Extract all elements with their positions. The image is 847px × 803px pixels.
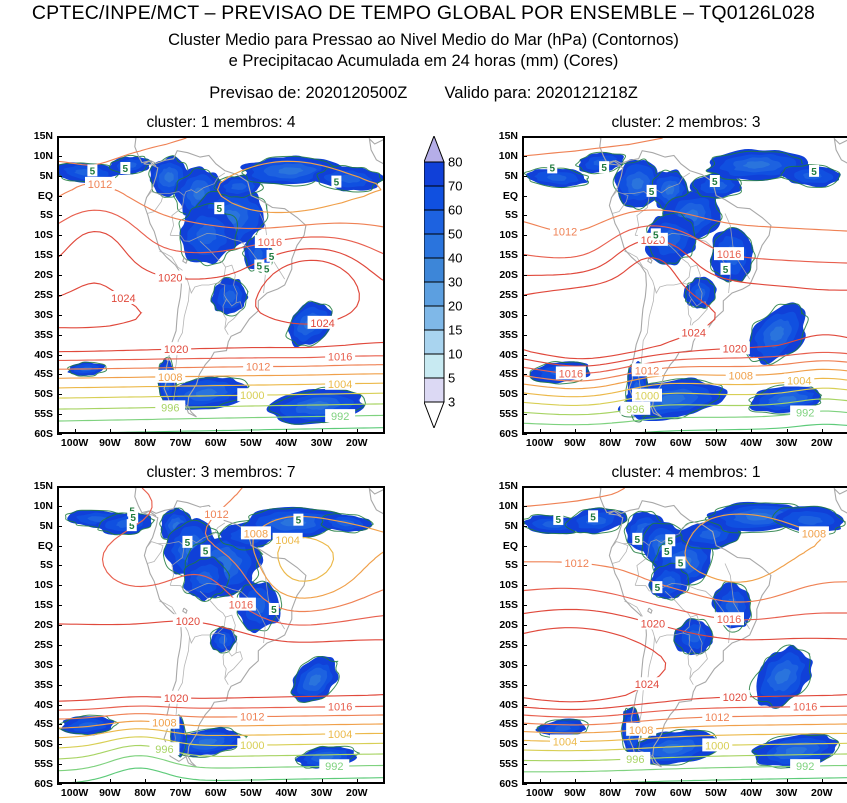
svg-text:5: 5 xyxy=(649,187,655,198)
x-axis-tick: 100W xyxy=(526,787,553,799)
y-axis-tick-mark xyxy=(522,565,527,566)
x-axis-tick-mark xyxy=(751,429,752,434)
y-axis-tick: 40S xyxy=(21,699,53,711)
y-axis-tick: 30S xyxy=(21,659,53,671)
y-axis-tick: 25S xyxy=(486,639,518,651)
y-axis-tick: 55S xyxy=(21,408,53,420)
y-axis-tick-mark xyxy=(57,685,62,686)
valid-for-label: Valido para: 2020121218Z xyxy=(445,84,638,102)
x-axis-tick-mark xyxy=(610,429,611,434)
x-axis-tick: 70W xyxy=(170,787,192,799)
y-axis-tick: EQ xyxy=(486,540,518,552)
svg-text:992: 992 xyxy=(796,407,814,419)
svg-text:1020: 1020 xyxy=(176,616,200,628)
y-axis-tick-mark xyxy=(522,665,527,666)
y-axis-tick: 55S xyxy=(486,758,518,770)
y-axis-tick-mark xyxy=(522,235,527,236)
y-axis-tick: 45S xyxy=(486,368,518,380)
x-axis-tick: 70W xyxy=(635,787,657,799)
y-axis-tick-mark xyxy=(522,315,527,316)
map-plot-area: 9929961000100410041008100810121012101610… xyxy=(57,486,385,784)
colorbar-label-10: 10 xyxy=(448,347,462,362)
y-axis-tick-mark xyxy=(57,625,62,626)
svg-text:5: 5 xyxy=(269,252,275,263)
svg-text:5: 5 xyxy=(217,204,223,215)
y-axis-tick-mark xyxy=(57,235,62,236)
y-axis-tick-mark xyxy=(57,374,62,375)
y-axis-tick-mark xyxy=(522,355,527,356)
svg-text:5: 5 xyxy=(334,178,340,189)
x-axis-tick: 30W xyxy=(776,787,798,799)
svg-text:1016: 1016 xyxy=(258,237,282,249)
svg-text:1020: 1020 xyxy=(641,618,665,630)
x-axis-tick: 60W xyxy=(670,437,692,449)
y-axis-tick-mark xyxy=(522,744,527,745)
colorbar-label-60: 60 xyxy=(448,203,462,218)
map-panel-cluster-4: cluster: 4 membros: 19929961000100410081… xyxy=(522,486,847,784)
x-axis-tick: 40W xyxy=(275,437,297,449)
svg-text:1012: 1012 xyxy=(635,365,659,377)
y-axis-tick-mark xyxy=(522,295,527,296)
svg-text:5: 5 xyxy=(257,262,263,273)
y-axis-tick-mark xyxy=(57,784,62,785)
svg-text:992: 992 xyxy=(796,761,814,773)
x-axis-tick: 90W xyxy=(99,787,121,799)
svg-text:1000: 1000 xyxy=(705,740,729,752)
x-axis-tick: 20W xyxy=(346,437,368,449)
x-axis-tick: 80W xyxy=(134,437,156,449)
x-axis-tick-mark xyxy=(357,429,358,434)
x-axis-tick: 30W xyxy=(776,437,798,449)
svg-text:5: 5 xyxy=(130,513,136,524)
y-axis-tick: 5N xyxy=(486,170,518,182)
x-axis-tick: 70W xyxy=(635,437,657,449)
y-axis-tick: 35S xyxy=(21,679,53,691)
y-axis-tick-mark xyxy=(57,295,62,296)
svg-text:1012: 1012 xyxy=(88,179,112,191)
x-axis-tick: 20W xyxy=(811,437,833,449)
y-axis-tick: 45S xyxy=(486,718,518,730)
y-axis-tick: 20S xyxy=(486,619,518,631)
y-axis-tick-mark xyxy=(522,705,527,706)
x-axis-tick-mark xyxy=(822,779,823,784)
x-axis-tick-mark xyxy=(645,779,646,784)
svg-text:5: 5 xyxy=(664,547,670,558)
svg-text:1020: 1020 xyxy=(164,344,188,356)
svg-text:5: 5 xyxy=(203,547,209,558)
svg-text:1004: 1004 xyxy=(328,729,352,741)
x-axis-tick-mark xyxy=(216,779,217,784)
svg-text:1016: 1016 xyxy=(793,702,817,714)
x-axis-tick: 100W xyxy=(61,437,88,449)
y-axis-tick: EQ xyxy=(21,540,53,552)
y-axis-tick: 15N xyxy=(486,130,518,142)
svg-text:1004: 1004 xyxy=(328,379,352,391)
map-plot-area: 9929961000100410081008101210121016101610… xyxy=(522,486,847,784)
panel-title-cluster-4: cluster: 4 membros: 1 xyxy=(522,464,847,482)
colorbar-label-50: 50 xyxy=(448,227,462,242)
svg-text:5: 5 xyxy=(590,512,596,523)
y-axis-tick-mark xyxy=(522,275,527,276)
svg-text:992: 992 xyxy=(325,761,343,773)
x-axis-tick: 50W xyxy=(705,437,727,449)
y-axis-tick-mark xyxy=(522,136,527,137)
svg-text:1008: 1008 xyxy=(629,725,653,737)
svg-text:5: 5 xyxy=(123,164,129,175)
x-axis-tick-mark xyxy=(787,779,788,784)
x-axis-tick: 90W xyxy=(564,437,586,449)
x-axis-tick-mark xyxy=(75,779,76,784)
y-axis-tick-mark xyxy=(57,136,62,137)
x-axis-tick: 100W xyxy=(526,437,553,449)
x-axis-tick-mark xyxy=(716,779,717,784)
x-axis-tick: 40W xyxy=(740,437,762,449)
y-axis-tick-mark xyxy=(57,315,62,316)
svg-text:5: 5 xyxy=(678,558,684,569)
x-axis-tick-mark xyxy=(145,779,146,784)
forecast-validity-line: Previsao de: 2020120500Z Valido para: 20… xyxy=(0,84,847,103)
y-axis-tick: 35S xyxy=(486,329,518,341)
y-axis-tick-mark xyxy=(522,764,527,765)
y-axis-tick-mark xyxy=(522,526,527,527)
subtitle-line-1: Cluster Medio para Pressao ao Nivel Medi… xyxy=(0,31,847,50)
y-axis-tick-mark xyxy=(522,414,527,415)
x-axis-tick-mark xyxy=(822,429,823,434)
x-axis-tick: 60W xyxy=(670,787,692,799)
y-axis-tick: 10N xyxy=(486,500,518,512)
y-axis-tick-mark xyxy=(57,335,62,336)
colorbar-label-70: 70 xyxy=(448,179,462,194)
y-axis-tick-mark xyxy=(522,196,527,197)
svg-text:996: 996 xyxy=(161,402,179,414)
x-axis-tick-mark xyxy=(75,429,76,434)
y-axis-tick: 5S xyxy=(21,209,53,221)
y-axis-tick-mark xyxy=(522,156,527,157)
x-axis-tick-mark xyxy=(716,429,717,434)
map-plot-area: 9929961000100410081012101210161016102010… xyxy=(57,136,385,434)
y-axis-tick-mark xyxy=(57,355,62,356)
svg-text:1008: 1008 xyxy=(728,370,752,382)
svg-text:5: 5 xyxy=(634,535,640,546)
y-axis-tick: 20S xyxy=(21,619,53,631)
x-axis-tick: 90W xyxy=(99,437,121,449)
colorbar-label-80: 80 xyxy=(448,155,462,170)
y-axis-tick-mark xyxy=(522,176,527,177)
y-axis-tick-mark xyxy=(522,335,527,336)
svg-text:1024: 1024 xyxy=(111,293,135,305)
y-axis-tick-mark xyxy=(57,215,62,216)
y-axis-tick-mark xyxy=(522,255,527,256)
svg-text:996: 996 xyxy=(155,744,173,756)
forecast-from-label: Previsao de: 2020120500Z xyxy=(209,84,407,102)
panel-title-cluster-3: cluster: 3 membros: 7 xyxy=(57,464,385,482)
x-axis-tick-mark xyxy=(322,429,323,434)
svg-text:1024: 1024 xyxy=(682,327,706,339)
svg-text:1012: 1012 xyxy=(705,712,729,724)
x-axis-tick-mark xyxy=(110,429,111,434)
y-axis-tick-mark xyxy=(522,434,527,435)
y-axis-tick-mark xyxy=(57,546,62,547)
y-axis-tick-mark xyxy=(57,176,62,177)
y-axis-tick: 50S xyxy=(486,738,518,750)
svg-text:5: 5 xyxy=(264,265,270,276)
svg-text:1000: 1000 xyxy=(635,391,659,403)
y-axis-tick-mark xyxy=(522,374,527,375)
svg-text:1016: 1016 xyxy=(229,600,253,612)
y-axis-tick-mark xyxy=(57,585,62,586)
y-axis-tick: 35S xyxy=(21,329,53,341)
y-axis-tick: 45S xyxy=(21,718,53,730)
svg-text:1008: 1008 xyxy=(244,528,268,540)
y-axis-tick: EQ xyxy=(486,190,518,202)
colorbar-label-40: 40 xyxy=(448,251,462,266)
y-axis-tick: 5N xyxy=(21,170,53,182)
x-axis-tick-mark xyxy=(180,779,181,784)
y-axis-tick-mark xyxy=(522,486,527,487)
y-axis-tick: 20S xyxy=(21,269,53,281)
y-axis-tick-mark xyxy=(57,705,62,706)
y-axis-tick: 10S xyxy=(21,229,53,241)
y-axis-tick-mark xyxy=(57,645,62,646)
svg-text:1016: 1016 xyxy=(717,249,741,261)
y-axis-tick: 15N xyxy=(486,480,518,492)
y-axis-tick-mark xyxy=(522,645,527,646)
svg-text:1008: 1008 xyxy=(802,528,826,540)
svg-text:5: 5 xyxy=(601,163,607,174)
svg-text:1020: 1020 xyxy=(158,272,182,284)
y-axis-tick: 15N xyxy=(21,130,53,142)
x-axis-tick: 80W xyxy=(599,437,621,449)
svg-text:1016: 1016 xyxy=(328,352,352,364)
y-axis-tick: 60S xyxy=(21,778,53,790)
y-axis-tick: 10N xyxy=(486,150,518,162)
y-axis-tick-mark xyxy=(57,506,62,507)
svg-text:992: 992 xyxy=(331,411,349,423)
y-axis-tick: 60S xyxy=(486,778,518,790)
svg-text:5: 5 xyxy=(667,536,673,547)
x-axis-tick: 30W xyxy=(311,437,333,449)
precipitation-colorbar: 80706050403020151053 xyxy=(424,136,484,428)
x-axis-tick-mark xyxy=(540,779,541,784)
y-axis-tick: 10N xyxy=(21,500,53,512)
y-axis-tick: EQ xyxy=(21,190,53,202)
svg-text:5: 5 xyxy=(811,167,817,178)
svg-text:1008: 1008 xyxy=(152,718,176,730)
y-axis-tick: 5S xyxy=(486,559,518,571)
x-axis-tick-mark xyxy=(610,779,611,784)
y-axis-tick-mark xyxy=(57,196,62,197)
x-axis-tick: 60W xyxy=(205,437,227,449)
y-axis-tick-mark xyxy=(522,506,527,507)
x-axis-tick: 80W xyxy=(134,787,156,799)
x-axis-tick-mark xyxy=(575,779,576,784)
x-axis-tick: 100W xyxy=(61,787,88,799)
y-axis-tick: 15S xyxy=(21,249,53,261)
y-axis-tick-mark xyxy=(522,585,527,586)
y-axis-tick: 50S xyxy=(21,738,53,750)
svg-text:996: 996 xyxy=(626,404,644,416)
x-axis-tick: 50W xyxy=(240,787,262,799)
svg-text:996: 996 xyxy=(626,754,644,766)
y-axis-tick: 25S xyxy=(21,639,53,651)
colorbar-label-3: 3 xyxy=(448,395,455,410)
x-axis-tick-mark xyxy=(357,779,358,784)
y-axis-tick-mark xyxy=(522,215,527,216)
colorbar-label-5: 5 xyxy=(448,371,455,386)
y-axis-tick: 60S xyxy=(21,428,53,440)
svg-text:1000: 1000 xyxy=(240,390,264,402)
x-axis-tick-mark xyxy=(251,779,252,784)
svg-text:1016: 1016 xyxy=(559,368,583,380)
y-axis-tick: 5S xyxy=(486,209,518,221)
x-axis-tick: 90W xyxy=(564,787,586,799)
svg-text:5: 5 xyxy=(655,583,661,594)
colorbar-label-30: 30 xyxy=(448,275,462,290)
svg-text:1004: 1004 xyxy=(787,376,811,388)
y-axis-tick-mark xyxy=(522,784,527,785)
svg-text:5: 5 xyxy=(653,230,659,241)
y-axis-tick-mark xyxy=(522,724,527,725)
y-axis-tick: 50S xyxy=(486,388,518,400)
svg-text:5: 5 xyxy=(90,166,96,177)
y-axis-tick: 30S xyxy=(486,659,518,671)
x-axis-tick: 40W xyxy=(740,787,762,799)
x-axis-tick: 50W xyxy=(705,787,727,799)
colorbar-label-20: 20 xyxy=(448,299,462,314)
svg-text:1012: 1012 xyxy=(553,227,577,239)
y-axis-tick: 40S xyxy=(21,349,53,361)
y-axis-tick: 15N xyxy=(21,480,53,492)
x-axis-tick-mark xyxy=(322,779,323,784)
svg-text:5: 5 xyxy=(549,163,555,174)
y-axis-tick-mark xyxy=(57,724,62,725)
y-axis-tick: 30S xyxy=(21,309,53,321)
y-axis-tick-mark xyxy=(57,434,62,435)
y-axis-tick-mark xyxy=(57,486,62,487)
x-axis-tick: 70W xyxy=(170,437,192,449)
y-axis-tick: 40S xyxy=(486,349,518,361)
map-panel-cluster-3: cluster: 3 membros: 79929961000100410041… xyxy=(57,486,385,784)
x-axis-tick: 20W xyxy=(346,787,368,799)
y-axis-tick: 20S xyxy=(486,269,518,281)
y-axis-tick: 35S xyxy=(486,679,518,691)
y-axis-tick: 45S xyxy=(21,368,53,380)
y-axis-tick: 5N xyxy=(486,520,518,532)
svg-text:1012: 1012 xyxy=(246,362,270,374)
x-axis-tick-mark xyxy=(251,429,252,434)
x-axis-tick-mark xyxy=(575,429,576,434)
x-axis-tick: 20W xyxy=(811,787,833,799)
y-axis-tick: 15S xyxy=(21,599,53,611)
svg-text:1020: 1020 xyxy=(164,693,188,705)
y-axis-tick: 55S xyxy=(486,408,518,420)
svg-text:1000: 1000 xyxy=(240,740,264,752)
y-axis-tick: 5S xyxy=(21,559,53,571)
svg-text:1008: 1008 xyxy=(158,372,182,384)
y-axis-tick: 50S xyxy=(21,388,53,400)
page-title: CPTEC/INPE/MCT – PREVISAO DE TEMPO GLOBA… xyxy=(0,2,847,25)
x-axis-tick-mark xyxy=(681,429,682,434)
y-axis-tick-mark xyxy=(522,685,527,686)
y-axis-tick-mark xyxy=(57,255,62,256)
y-axis-tick: 15S xyxy=(486,249,518,261)
y-axis-tick-mark xyxy=(522,394,527,395)
svg-text:1020: 1020 xyxy=(723,692,747,704)
x-axis-tick-mark xyxy=(145,429,146,434)
y-axis-tick-mark xyxy=(522,605,527,606)
x-axis-tick-mark xyxy=(540,429,541,434)
svg-text:1012: 1012 xyxy=(240,712,264,724)
svg-text:1016: 1016 xyxy=(328,702,352,714)
y-axis-tick-mark xyxy=(57,605,62,606)
x-axis-tick-mark xyxy=(110,779,111,784)
x-axis-tick: 50W xyxy=(240,437,262,449)
y-axis-tick: 25S xyxy=(486,289,518,301)
x-axis-tick-mark xyxy=(286,429,287,434)
svg-text:1024: 1024 xyxy=(635,679,659,691)
y-axis-tick: 25S xyxy=(21,289,53,301)
y-axis-tick-mark xyxy=(57,764,62,765)
x-axis-tick-mark xyxy=(180,429,181,434)
y-axis-tick-mark xyxy=(57,665,62,666)
y-axis-tick-mark xyxy=(57,414,62,415)
svg-text:1004: 1004 xyxy=(275,535,299,547)
colorbar-label-15: 15 xyxy=(448,323,462,338)
y-axis-tick: 5N xyxy=(21,520,53,532)
y-axis-tick-mark xyxy=(522,625,527,626)
y-axis-tick-mark xyxy=(57,526,62,527)
x-axis-tick-mark xyxy=(751,779,752,784)
x-axis-tick-mark xyxy=(216,429,217,434)
x-axis-tick: 60W xyxy=(205,787,227,799)
panel-title-cluster-2: cluster: 2 membros: 3 xyxy=(522,114,847,132)
map-plot-area: 9929961000100410081012101210161016102010… xyxy=(522,136,847,434)
svg-text:5: 5 xyxy=(723,265,729,276)
y-axis-tick: 40S xyxy=(486,699,518,711)
svg-text:1016: 1016 xyxy=(717,614,741,626)
y-axis-tick-mark xyxy=(522,546,527,547)
svg-text:1012: 1012 xyxy=(204,509,228,521)
subtitle-line-2: e Precipitacao Acumulada em 24 horas (mm… xyxy=(0,52,847,71)
panel-title-cluster-1: cluster: 1 membros: 4 xyxy=(57,114,385,132)
y-axis-tick: 10S xyxy=(486,579,518,591)
x-axis-tick-mark xyxy=(787,429,788,434)
y-axis-tick: 10N xyxy=(21,150,53,162)
map-panel-cluster-2: cluster: 2 membros: 39929961000100410081… xyxy=(522,136,847,434)
svg-text:1020: 1020 xyxy=(723,343,747,355)
x-axis-tick: 40W xyxy=(275,787,297,799)
y-axis-tick: 30S xyxy=(486,309,518,321)
svg-text:5: 5 xyxy=(296,516,302,527)
svg-text:5: 5 xyxy=(271,605,277,616)
y-axis-tick-mark xyxy=(57,565,62,566)
svg-text:1012: 1012 xyxy=(564,558,588,570)
map-panel-cluster-1: cluster: 1 membros: 49929961000100410081… xyxy=(57,136,385,434)
svg-text:1024: 1024 xyxy=(310,318,334,330)
svg-text:1004: 1004 xyxy=(553,736,577,748)
x-axis-tick-mark xyxy=(681,779,682,784)
y-axis-tick-mark xyxy=(57,156,62,157)
y-axis-tick: 10S xyxy=(486,229,518,241)
y-axis-tick-mark xyxy=(57,744,62,745)
x-axis-tick: 30W xyxy=(311,787,333,799)
x-axis-tick-mark xyxy=(286,779,287,784)
svg-text:5: 5 xyxy=(185,538,191,549)
y-axis-tick: 60S xyxy=(486,428,518,440)
y-axis-tick: 15S xyxy=(486,599,518,611)
x-axis-tick: 80W xyxy=(599,787,621,799)
y-axis-tick: 55S xyxy=(21,758,53,770)
